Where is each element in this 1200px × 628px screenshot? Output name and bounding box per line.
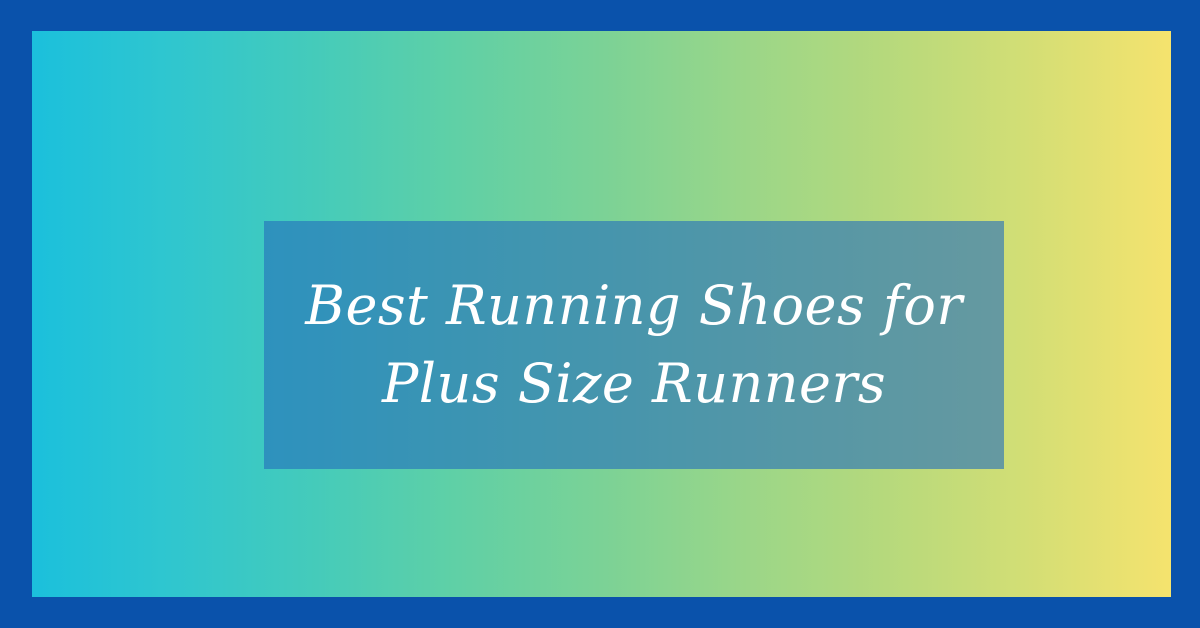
title-card-banner: Best Running Shoes for Plus Size Runners (0, 0, 1200, 628)
gradient-background: Best Running Shoes for Plus Size Runners (32, 31, 1171, 597)
page-title: Best Running Shoes for Plus Size Runners (292, 267, 976, 424)
headline-overlay-card: Best Running Shoes for Plus Size Runners (264, 221, 1004, 469)
